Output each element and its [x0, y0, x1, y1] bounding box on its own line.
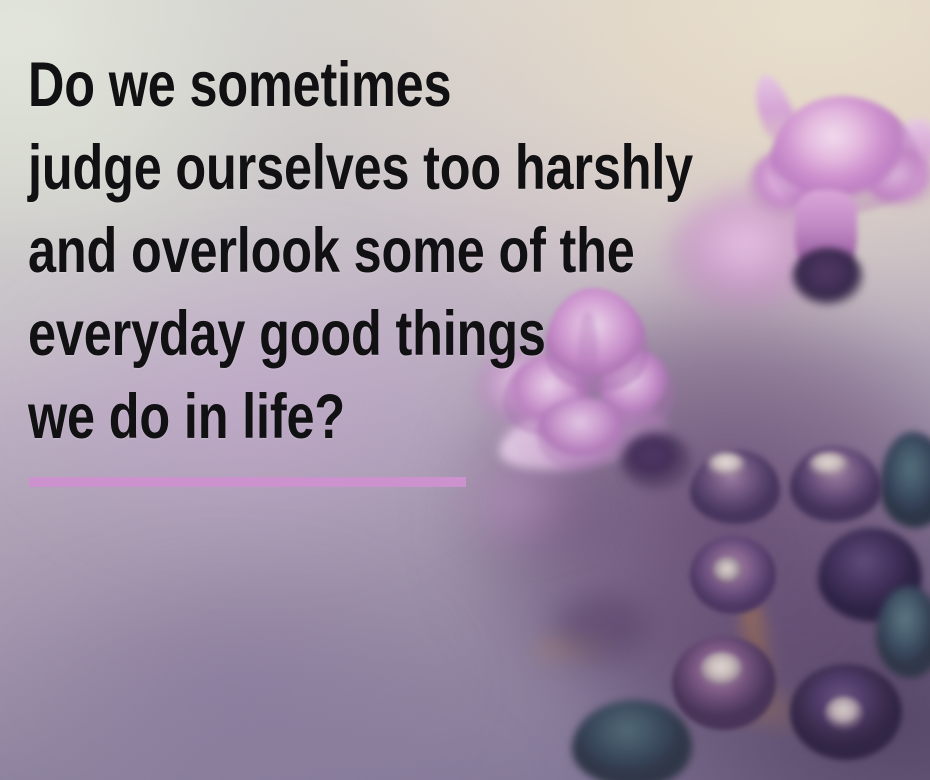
quote-line-3: and overlook some of the: [28, 210, 588, 293]
quote-underline-rule: [29, 477, 466, 487]
quote-text-block: Do we sometimes judge ourselves too hars…: [28, 44, 728, 459]
quote-image-canvas: Do we sometimes judge ourselves too hars…: [0, 0, 930, 780]
quote-line-2: judge ourselves too harshly: [28, 127, 588, 210]
quote-line-4: everyday good things: [28, 293, 588, 376]
quote-line-5: we do in life?: [28, 376, 588, 459]
quote-line-1: Do we sometimes: [28, 44, 588, 127]
